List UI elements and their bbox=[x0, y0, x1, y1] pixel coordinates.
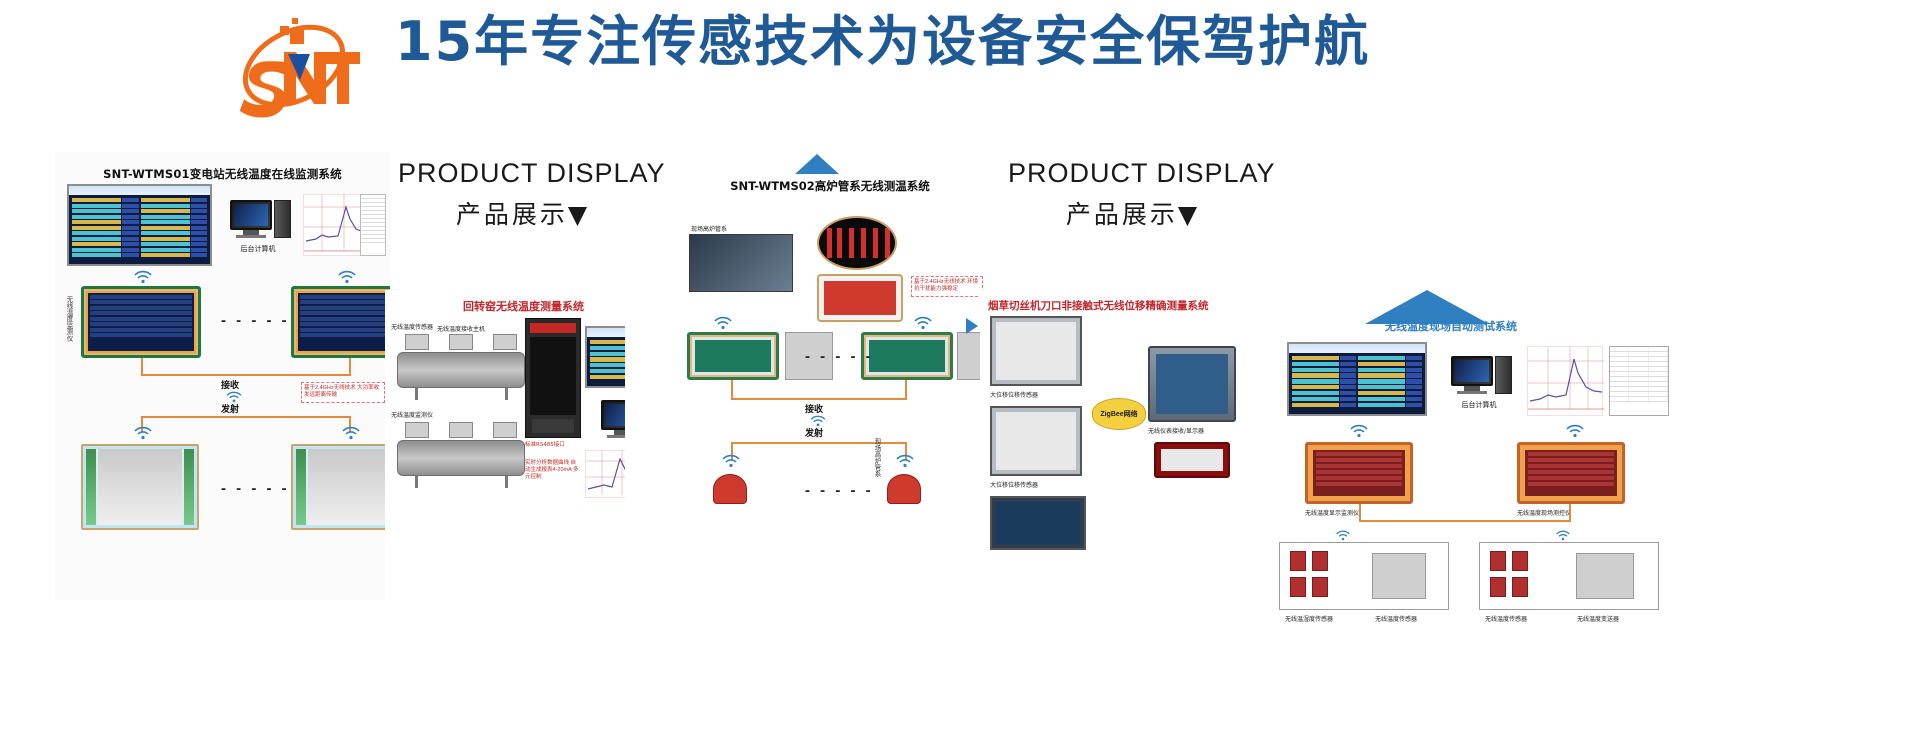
wtms02-field-sensor-left[interactable] bbox=[713, 474, 747, 504]
connector-line bbox=[141, 374, 351, 376]
panel1-transmit-label: 发射 bbox=[221, 402, 239, 415]
panel5-device-right[interactable] bbox=[1517, 442, 1625, 504]
screen-row bbox=[590, 363, 625, 367]
panel1-note: 基于2.4GHz无线技术 大功率收发远距离传输 bbox=[301, 382, 385, 403]
kiln-sensor-6[interactable] bbox=[493, 422, 517, 438]
screen-row bbox=[141, 237, 208, 241]
panel-wtms01-title: SNT-WTMS01变电站无线温度在线监测系统 bbox=[55, 166, 390, 182]
kiln-body-1 bbox=[397, 352, 525, 388]
panel1-dashes-2: - - - - - bbox=[221, 480, 290, 497]
device-body bbox=[86, 449, 194, 525]
device-body bbox=[296, 449, 390, 525]
screen-col bbox=[72, 198, 139, 257]
wtms02-led-display-oval bbox=[817, 216, 897, 270]
screen-row bbox=[141, 198, 208, 202]
product-banner-page: SNT 15年专注传感技术为设备安全保驾护航 SNT-WTMS01变电站无线温度… bbox=[0, 0, 1920, 600]
panel-rotary-kiln-title: 回转窑无线温度测量系统 bbox=[463, 298, 584, 314]
product-display-en-1: PRODUCT DISPLAY bbox=[398, 158, 648, 189]
pc-monitor-icon bbox=[601, 400, 625, 430]
wifi-icon bbox=[1335, 528, 1355, 542]
panels-row: SNT-WTMS01变电站无线温度在线监测系统 bbox=[0, 140, 1920, 600]
connector-line bbox=[141, 416, 351, 418]
connector-line bbox=[905, 380, 907, 400]
panel-tobacco-cutter[interactable]: 烟草切丝机刀口非接触式无线位移精确测量系统 大位移位移传感器 大位移位移传感器 … bbox=[980, 290, 1245, 600]
tobacco-wireless-display[interactable] bbox=[1148, 346, 1236, 422]
wifi-icon bbox=[341, 426, 361, 440]
pc-monitor-icon bbox=[1451, 356, 1493, 386]
screen-row bbox=[141, 248, 208, 252]
panel-wtms02-title: SNT-WTMS02高炉管系无线测温系统 bbox=[665, 178, 995, 194]
panel1-note-text: 基于2.4GHz无线技术 大功率收发远距离传输 bbox=[304, 385, 379, 398]
kiln-leg bbox=[505, 388, 508, 400]
device-cabinet bbox=[86, 449, 96, 525]
wtms02-dashes: - - - - - bbox=[805, 348, 874, 365]
curve-graph-icon bbox=[1528, 347, 1604, 417]
kiln-sensor-4[interactable] bbox=[405, 422, 429, 438]
wtms02-side-label: 现场高炉管系 bbox=[871, 438, 881, 477]
device-cabinet bbox=[184, 449, 194, 525]
wifi-icon bbox=[133, 270, 153, 284]
kiln-body-2 bbox=[397, 440, 525, 476]
arrow-right-icon bbox=[966, 318, 978, 334]
screen-row bbox=[141, 242, 208, 246]
tobacco-device-label: 无线仪表接收/显示器 bbox=[1148, 426, 1204, 435]
panel5-label-left: 无线温度显示监测仪 bbox=[1305, 508, 1359, 517]
tobacco-controller[interactable] bbox=[990, 496, 1086, 550]
screen-toolbar bbox=[587, 328, 625, 337]
connector-line bbox=[731, 398, 907, 400]
screen-col bbox=[590, 340, 625, 379]
screen-row bbox=[590, 375, 625, 379]
wtms01-field-device-right[interactable] bbox=[291, 444, 390, 530]
tobacco-sensor-panel-2[interactable] bbox=[990, 406, 1082, 476]
snt-logo: SNT bbox=[222, 8, 367, 133]
tobacco-sensor-label-1: 大位移位移传感器 bbox=[990, 390, 1038, 399]
screen-row bbox=[590, 369, 625, 373]
sensor-block bbox=[1312, 551, 1328, 571]
sensor-block bbox=[1512, 577, 1528, 597]
wifi-icon bbox=[713, 316, 733, 330]
sensor-block bbox=[1490, 551, 1506, 571]
screen-row bbox=[72, 248, 139, 252]
panel5-label-b3: 无线温度传感器 bbox=[1485, 614, 1527, 623]
screen-toolbar bbox=[1289, 344, 1425, 353]
screen-row bbox=[1358, 373, 1422, 377]
panel5-device-left[interactable] bbox=[1305, 442, 1413, 504]
wtms02-dashes-2: - - - - - bbox=[805, 482, 874, 499]
device-panel bbox=[98, 449, 182, 525]
screen-row bbox=[1358, 397, 1422, 401]
wtms01-monitor-node-left[interactable] bbox=[81, 286, 201, 358]
screen-row bbox=[72, 226, 139, 230]
kiln-rs485-label: 标准RS485接口 bbox=[525, 440, 565, 448]
screen-row bbox=[141, 220, 208, 224]
screen-col bbox=[1358, 356, 1422, 407]
panel-wireless-field-test[interactable]: 无线温度现场自动测试系统 bbox=[1265, 290, 1920, 740]
table-row bbox=[1610, 397, 1668, 402]
wifi-icon bbox=[895, 454, 915, 468]
kiln-sensor-label-bottom: 无线温度监测仪 bbox=[391, 410, 433, 419]
panel5-label-right: 无线温度现场测控仪 bbox=[1517, 508, 1571, 517]
kiln-curve-graph bbox=[585, 450, 625, 498]
panel5-label-b2: 无线温度传感器 bbox=[1375, 614, 1417, 623]
kiln-receiver-label: 无线温度接收主机 bbox=[437, 324, 485, 333]
panel5-title: 无线温度现场自动测试系统 bbox=[1385, 318, 1517, 334]
sensor-block bbox=[1312, 577, 1328, 597]
panel5-label-b4: 无线温度变送器 bbox=[1577, 614, 1619, 623]
panel5-data-table bbox=[1609, 346, 1669, 416]
screen-toolbar bbox=[69, 186, 210, 195]
wtms01-field-device-left[interactable] bbox=[81, 444, 199, 530]
node-screen bbox=[88, 293, 194, 351]
wifi-icon bbox=[1565, 424, 1585, 438]
kiln-wireless-meter[interactable] bbox=[525, 318, 581, 438]
page-header: SNT 15年专注传感技术为设备安全保驾护航 bbox=[0, 0, 1920, 140]
sensor-block bbox=[1290, 577, 1306, 597]
wtms01-backend-pc bbox=[230, 200, 272, 238]
device-screen bbox=[1313, 450, 1405, 496]
sensor-block bbox=[1512, 551, 1528, 571]
tobacco-red-device[interactable] bbox=[1154, 442, 1230, 478]
wtms02-note-text: 基于2.4GHz无线技术 环境抗干扰能力强稳定 bbox=[914, 279, 978, 292]
wtms01-data-table bbox=[360, 194, 386, 256]
panel-wtms01[interactable]: SNT-WTMS01变电站无线温度在线监测系统 bbox=[55, 152, 390, 600]
product-display-cn-2: 产品展示▼ bbox=[1008, 195, 1258, 231]
pc-tower-icon bbox=[1495, 356, 1512, 394]
connector-line bbox=[731, 380, 733, 400]
screen-row bbox=[590, 346, 625, 350]
screen-row bbox=[72, 215, 139, 219]
wifi-icon bbox=[913, 316, 933, 330]
kiln-sensor-2[interactable] bbox=[449, 334, 473, 350]
meter-buttons[interactable] bbox=[532, 419, 574, 433]
screen-row bbox=[1292, 373, 1356, 377]
screen-columns bbox=[587, 337, 625, 382]
pc-monitor-icon bbox=[230, 200, 272, 230]
wtms02-field-sensor-right[interactable] bbox=[887, 474, 921, 504]
wifi-icon bbox=[1555, 528, 1575, 542]
screen-row bbox=[72, 209, 139, 213]
screen-row bbox=[72, 237, 139, 241]
screen-row bbox=[141, 226, 208, 230]
sensor-module bbox=[1372, 553, 1426, 599]
wtms02-panel-display bbox=[817, 274, 903, 322]
kiln-sensor-1[interactable] bbox=[405, 334, 429, 350]
panel5-curve-graph bbox=[1527, 346, 1603, 416]
kiln-sensor-3[interactable] bbox=[493, 334, 517, 350]
screen-row bbox=[1358, 385, 1422, 389]
tobacco-sensor-panel-1[interactable] bbox=[990, 316, 1082, 386]
node-screen bbox=[298, 293, 390, 351]
node-screen bbox=[695, 340, 771, 372]
screen-row bbox=[72, 198, 139, 202]
pc-base bbox=[236, 235, 266, 238]
pc-base bbox=[1457, 391, 1487, 394]
kiln-note: 实时分析数据曲线 自动生成报表4-20mA 多元控制 bbox=[525, 460, 581, 481]
kiln-leg bbox=[415, 476, 418, 488]
wifi-icon bbox=[721, 454, 741, 468]
panel-tobacco-title: 烟草切丝机刀口非接触式无线位移精确测量系统 bbox=[988, 298, 1209, 313]
curve-graph-icon bbox=[586, 451, 625, 499]
screen-row bbox=[1358, 356, 1422, 360]
wtms02-note: 基于2.4GHz无线技术 环境抗干扰能力强稳定 bbox=[911, 276, 983, 297]
screen-row bbox=[72, 253, 139, 257]
wifi-icon bbox=[133, 426, 153, 440]
wtms02-transmit-label: 发射 bbox=[805, 426, 823, 439]
panel-face bbox=[996, 322, 1076, 380]
screen-row bbox=[1358, 403, 1422, 407]
tobacco-zigbee-badge: ZigBee网络 bbox=[1092, 398, 1146, 430]
screen-col bbox=[1292, 356, 1356, 407]
screen-row bbox=[1292, 368, 1356, 372]
node-screen bbox=[869, 340, 945, 372]
screen-row bbox=[72, 220, 139, 224]
tobacco-sensor-label-2: 大位移位移传感器 bbox=[990, 480, 1038, 489]
sensor-block bbox=[1490, 577, 1506, 597]
device-screen bbox=[1525, 450, 1617, 496]
screen-columns bbox=[69, 195, 210, 260]
screen-row bbox=[1292, 385, 1356, 389]
product-display-en-2: PRODUCT DISPLAY bbox=[1008, 158, 1258, 189]
meter-title-bar bbox=[530, 323, 576, 333]
controller-screen bbox=[996, 502, 1080, 544]
wifi-icon bbox=[337, 270, 357, 284]
connector-line bbox=[1569, 504, 1571, 522]
wtms01-software-screen bbox=[67, 184, 212, 266]
meter-screen bbox=[530, 337, 576, 415]
sensor-block bbox=[1290, 551, 1306, 571]
kiln-leg bbox=[505, 476, 508, 488]
kiln-software-screen bbox=[585, 326, 625, 388]
panel5-backend-pc bbox=[1451, 356, 1493, 394]
screen-columns bbox=[1289, 353, 1425, 410]
wifi-icon bbox=[1349, 424, 1369, 438]
wtms01-monitor-node-right[interactable] bbox=[291, 286, 390, 358]
device-cabinet bbox=[296, 449, 306, 525]
panel-wtms02[interactable]: SNT-WTMS02高炉管系无线测温系统 现场高炉管系 基于2.4GHz无线技术… bbox=[665, 148, 995, 600]
screen-row bbox=[1292, 391, 1356, 395]
page-headline: 15年专注传感技术为设备安全保驾护航 bbox=[395, 8, 1370, 76]
screen-row bbox=[141, 204, 208, 208]
screen-row bbox=[141, 209, 208, 213]
screen-row bbox=[72, 204, 139, 208]
connector-line bbox=[1359, 520, 1571, 522]
screen-row bbox=[590, 352, 625, 356]
pc-base bbox=[607, 435, 625, 438]
connector-line bbox=[349, 358, 351, 376]
product-display-cn-1: 产品展示▼ bbox=[398, 195, 648, 231]
screen-row bbox=[590, 357, 625, 361]
wtms02-site-photo bbox=[689, 234, 793, 292]
device-panel bbox=[308, 449, 390, 525]
product-display-block-2: PRODUCT DISPLAY 产品展示▼ bbox=[1008, 158, 1258, 231]
screen-row bbox=[1292, 362, 1356, 366]
screen-row bbox=[1358, 362, 1422, 366]
panel-face bbox=[996, 412, 1076, 470]
screen-row bbox=[1292, 356, 1356, 360]
snt-logo-icon bbox=[222, 8, 367, 133]
device-screen bbox=[1156, 354, 1228, 414]
screen-row bbox=[1358, 368, 1422, 372]
product-display-block-1: PRODUCT DISPLAY 产品展示▼ bbox=[398, 158, 648, 231]
screen-row bbox=[1358, 379, 1422, 383]
screen-row bbox=[141, 215, 208, 219]
panel5-label-b1: 无线温湿度传感器 bbox=[1285, 614, 1333, 623]
screen-row bbox=[141, 253, 208, 257]
sensor-module bbox=[1576, 553, 1634, 599]
kiln-leg bbox=[415, 388, 418, 400]
screen-row bbox=[1292, 397, 1356, 401]
kiln-sensor-label-top: 无线温度传感器 bbox=[391, 322, 433, 331]
kiln-sensor-5[interactable] bbox=[449, 422, 473, 438]
screen-col bbox=[141, 198, 208, 257]
arrow-up-icon bbox=[795, 154, 839, 174]
screen-row bbox=[72, 231, 139, 235]
panel1-side-label: 无线温度监测仪 bbox=[63, 296, 73, 342]
pc-tower-icon bbox=[274, 200, 291, 238]
screen-row bbox=[1358, 391, 1422, 395]
pc-caption: 后台计算机 bbox=[223, 244, 293, 254]
screen-row bbox=[590, 340, 625, 344]
screen-row bbox=[141, 231, 208, 235]
wtms02-photo-label: 现场高炉管系 bbox=[691, 224, 727, 233]
panel5-software-screen bbox=[1287, 342, 1427, 416]
screen-row bbox=[72, 242, 139, 246]
device-face bbox=[1161, 449, 1223, 471]
panel1-dashes: - - - - - bbox=[221, 312, 290, 329]
screen-row bbox=[1292, 403, 1356, 407]
wtms02-node-left[interactable] bbox=[687, 332, 779, 380]
panel5-pc-caption: 后台计算机 bbox=[1443, 400, 1515, 410]
panel-rotary-kiln[interactable]: 回转窑无线温度测量系统 无线温度传感器 无线温度接收主机 无线温度监测仪 Zig… bbox=[385, 290, 625, 600]
wtms02-node-right[interactable] bbox=[861, 332, 953, 380]
kiln-backend-pc bbox=[601, 400, 625, 438]
screen-row bbox=[1292, 379, 1356, 383]
